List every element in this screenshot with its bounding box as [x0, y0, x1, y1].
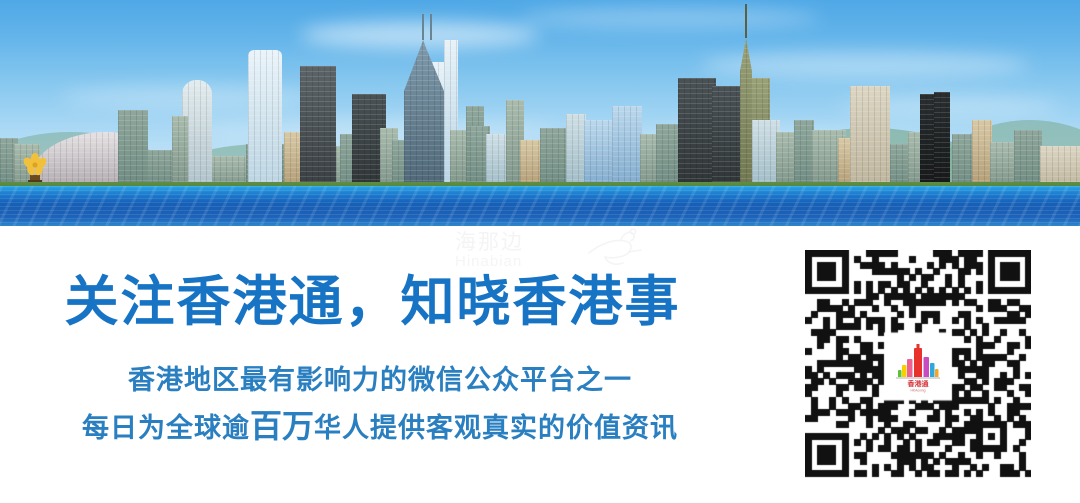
building-shape [740, 38, 752, 190]
subtitle-line-1: 香港地区最有影响力的微信公众平台之一 [0, 364, 760, 398]
subtitle-line-2-prefix: 每日为全球逾 [82, 413, 250, 444]
promo-banner-page: 海那边 Hinabian 关注香港通，知晓香港事 香港地区最有影响力的微信公众平… [0, 0, 1080, 503]
qr-center-logo: 香港通 HKAoxing [891, 340, 945, 394]
building-shape [850, 86, 890, 190]
building-shape [972, 120, 992, 190]
building-shape [118, 110, 148, 190]
page-title: 关注香港通，知晓香港事 [0, 272, 745, 332]
building-shape [934, 92, 950, 190]
subtitle-line-2: 每日为全球逾百万华人提供客观真实的价值资讯 [0, 409, 760, 446]
subtitle-line-2-emphasis: 百万 [250, 407, 314, 445]
golden-bauhinia-statue-icon [22, 150, 48, 184]
building-shape [1014, 130, 1042, 190]
building-shape [794, 120, 814, 190]
city-skyline-buildings [0, 20, 1080, 190]
building-shape [172, 116, 188, 190]
victoria-harbour-water [0, 186, 1080, 226]
building-shape [248, 50, 282, 190]
building-shape [920, 94, 934, 190]
hong-kong-skyline-banner [0, 0, 1080, 226]
tower-spire [422, 14, 424, 40]
tower-spire [430, 14, 432, 40]
building-shape [300, 66, 336, 190]
tower-spire [745, 4, 747, 38]
building-shape [678, 78, 716, 190]
hong-kong-tong-logo-icon: 香港通 HKAoxing [891, 340, 945, 394]
building-shape [612, 106, 642, 190]
subtitle-line-2-suffix: 华人提供客观真实的价值资讯 [314, 413, 678, 444]
water-sparkle [0, 186, 1080, 226]
svg-text:HKAoxing: HKAoxing [910, 388, 925, 392]
wechat-qr-code[interactable]: 香港通 HKAoxing [805, 250, 1031, 483]
building-shape [566, 114, 586, 190]
svg-text:香港通: 香港通 [907, 379, 930, 388]
